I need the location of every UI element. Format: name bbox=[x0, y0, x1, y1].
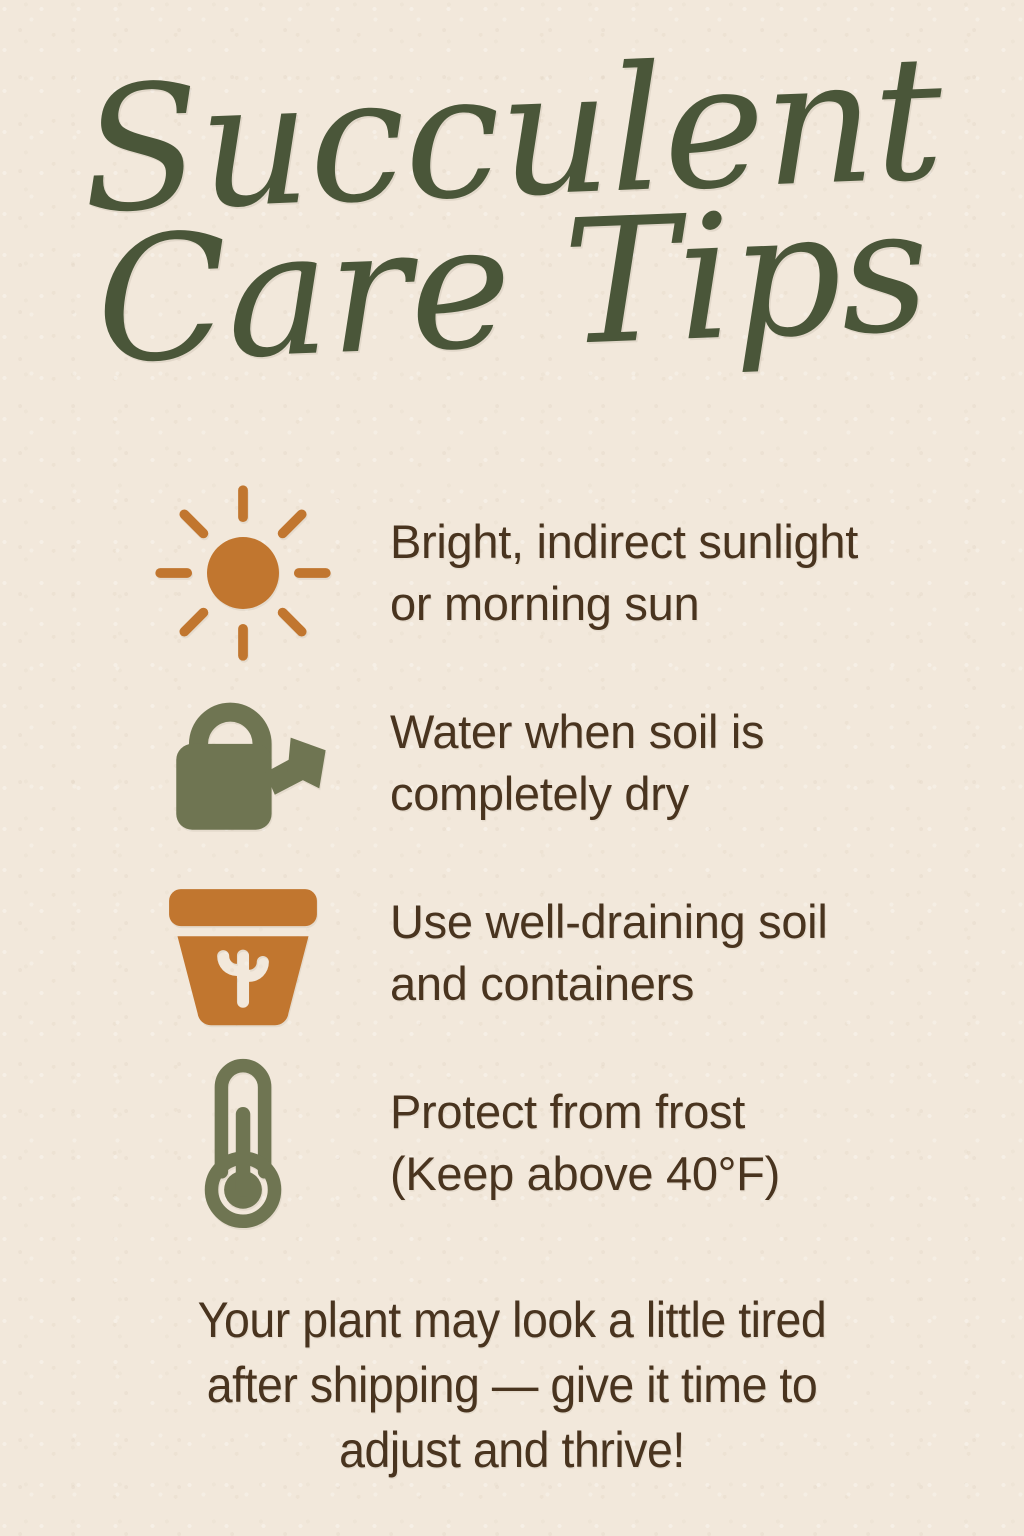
tip-text-line: and containers bbox=[390, 953, 827, 1015]
tip-text-line: (Keep above 40°F) bbox=[390, 1143, 780, 1205]
tip-row-soil: Use well-draining soil and containers bbox=[0, 858, 1024, 1048]
footer-line: Your plant may look a little tired bbox=[36, 1288, 988, 1353]
succulent-care-tips-poster: Succulent Care Tips bbox=[0, 0, 1024, 1536]
watering-can-icon bbox=[118, 668, 368, 858]
tip-row-sunlight: Bright, indirect sunlight or morning sun bbox=[0, 478, 1024, 668]
tip-row-frost: Protect from frost (Keep above 40°F) bbox=[0, 1048, 1024, 1238]
tip-text-sunlight: Bright, indirect sunlight or morning sun bbox=[390, 511, 858, 635]
tip-text-soil: Use well-draining soil and containers bbox=[390, 891, 827, 1015]
care-tips-list: Bright, indirect sunlight or morning sun bbox=[0, 478, 1024, 1238]
poster-footer-note: Your plant may look a little tired after… bbox=[0, 1288, 1024, 1483]
tip-text-line: completely dry bbox=[390, 763, 764, 825]
tip-text-line: Bright, indirect sunlight bbox=[390, 511, 858, 573]
tip-text-watering: Water when soil is completely dry bbox=[390, 701, 764, 825]
thermometer-icon bbox=[118, 1048, 368, 1238]
tip-text-line: Water when soil is bbox=[390, 701, 764, 763]
footer-line: adjust and thrive! bbox=[36, 1418, 988, 1483]
poster-title: Succulent Care Tips bbox=[0, 52, 1024, 368]
tip-text-line: or morning sun bbox=[390, 573, 858, 635]
tip-text-line: Protect from frost bbox=[390, 1081, 780, 1143]
tip-text-line: Use well-draining soil bbox=[390, 891, 827, 953]
sun-icon bbox=[118, 478, 368, 668]
tip-row-watering: Water when soil is completely dry bbox=[0, 668, 1024, 858]
tip-text-frost: Protect from frost (Keep above 40°F) bbox=[390, 1081, 780, 1205]
footer-line: after shipping — give it time to bbox=[36, 1353, 988, 1418]
title-line-care-tips: Care Tips bbox=[0, 184, 1024, 388]
plant-pot-icon bbox=[118, 858, 368, 1048]
